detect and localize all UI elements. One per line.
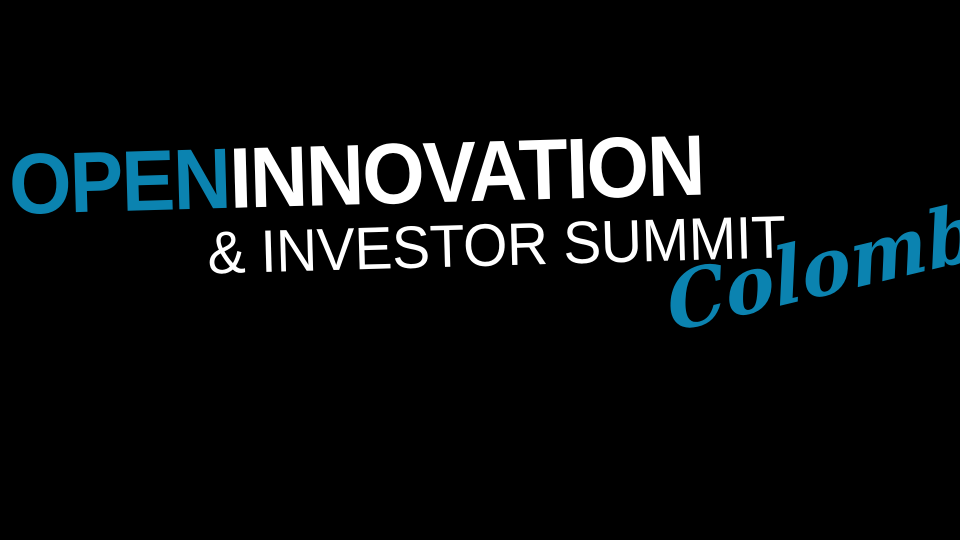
event-logo-lockup: OPENINNOVATION & INVESTOR SUMMIT Colombi… bbox=[0, 0, 960, 540]
headline-word-open: OPEN bbox=[8, 131, 231, 233]
title-card-stage: OPENINNOVATION & INVESTOR SUMMIT Colombi… bbox=[0, 0, 960, 540]
